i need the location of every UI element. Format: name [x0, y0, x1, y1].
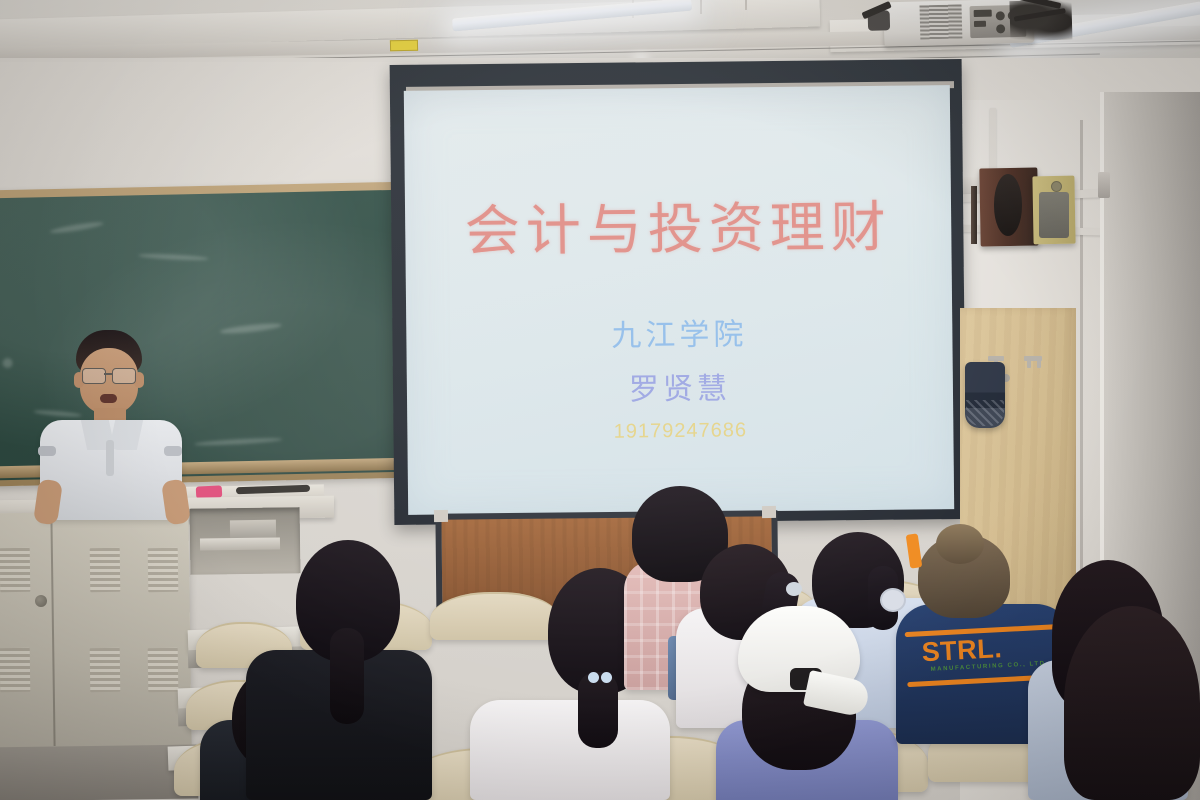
lecture-seat[interactable]: [430, 592, 560, 640]
cabinet-vent-louver: [0, 548, 30, 592]
presentation-slide: 会计与投资理财 九江学院 罗贤慧 19179247686: [404, 85, 954, 515]
coat-hook-icon: [1037, 359, 1041, 368]
panel-post-cap: [434, 510, 448, 522]
student-ponytail: [330, 628, 364, 724]
equipment-unit: [230, 520, 276, 539]
speaker-logo-icon: [1051, 181, 1062, 192]
hair-tie-bead: [601, 672, 612, 683]
presenter-shirt-placket: [106, 440, 114, 476]
cabinet-vent-louver: [0, 648, 30, 692]
chalk-smudge: [50, 220, 104, 235]
slide-title: 会计与投资理财: [464, 182, 892, 266]
light-hanger-rod: [700, 0, 702, 14]
presenter-mouth: [100, 394, 117, 403]
chalk-smudge: [194, 437, 282, 447]
hair-accessory: [786, 582, 802, 596]
chalk-dot: [2, 358, 12, 368]
ceiling-warning-label: [390, 40, 418, 51]
slide-organization: 九江学院: [611, 309, 747, 354]
classroom-photo-scene: 会计与投资理财 九江学院 罗贤慧 19179247686: [0, 0, 1200, 800]
hair-scrunchie: [880, 588, 906, 612]
student-torso: [470, 700, 670, 800]
presenter-sleeve-cuff: [38, 446, 56, 456]
projector-port: [974, 21, 986, 27]
cabinet-vent-louver: [148, 648, 179, 692]
slide-speaker-name: 罗贤慧: [629, 363, 731, 408]
hair-tie-bead: [588, 672, 599, 683]
equipment-cabinet[interactable]: [0, 511, 192, 752]
student-head: [1064, 606, 1200, 800]
chalk-smudge: [220, 322, 282, 336]
coat-hook-icon: [1027, 359, 1031, 368]
cabinet-vent-louver: [148, 548, 179, 592]
door-hinge: [1098, 172, 1110, 198]
speaker-mount-rod: [971, 186, 977, 244]
cabinet-lock-icon[interactable]: [35, 595, 47, 607]
bag-pattern: [966, 400, 1004, 426]
panel-post-cap: [762, 506, 776, 518]
hair-bun: [936, 524, 984, 564]
projector-port: [974, 10, 992, 17]
cabinet-vent-louver: [90, 548, 121, 592]
presenter: [36, 330, 186, 516]
speaker-cone: [994, 174, 1022, 236]
speaker-grill: [1039, 192, 1069, 238]
cabinet-vent-louver: [90, 648, 121, 692]
eyeglasses-icon: [112, 368, 136, 384]
ceiling-projector: [883, 0, 1070, 50]
eyeglasses-icon: [82, 368, 106, 384]
projector-vent: [919, 4, 962, 39]
slide-phone-number: 19179247686: [614, 419, 748, 443]
power-strip: [200, 537, 280, 550]
light-hanger-rod: [745, 0, 747, 10]
eyeglasses-bridge: [104, 373, 112, 375]
projector-port: [996, 11, 1005, 20]
projector-port: [996, 24, 1005, 33]
presenter-sleeve-cuff: [164, 446, 182, 456]
student-ponytail: [578, 672, 618, 748]
chalk-smudge: [138, 253, 208, 261]
